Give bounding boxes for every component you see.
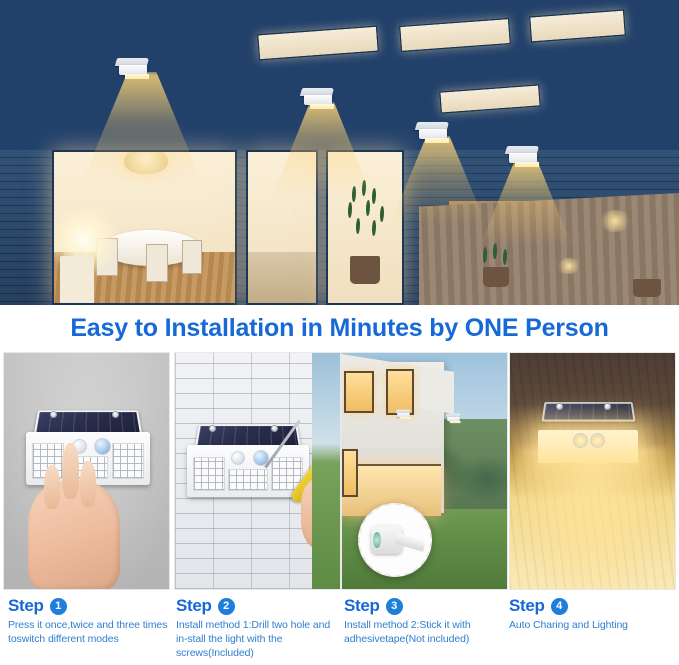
light-glow (598, 210, 632, 232)
chair (182, 240, 202, 274)
step-caption-3: Step 3 Install method 2:Stick it with ad… (344, 596, 512, 647)
mounting-screw (50, 411, 57, 418)
light-housing (119, 65, 147, 75)
step-heading-3: Step 3 (344, 596, 512, 616)
potted-plant (342, 186, 394, 258)
step-label-2: Step (176, 596, 212, 616)
step-caption-1: Step 1 Press it once,twice and three tim… (8, 596, 176, 647)
step-caption-4: Step 4 Auto Charing and Lighting (509, 596, 677, 633)
product-infographic: Easy to Installation in Minutes by ONE P… (0, 0, 679, 665)
step-heading-1: Step 1 (8, 596, 176, 616)
led-array-left (193, 457, 225, 491)
solar-light-fixture (115, 58, 149, 75)
mounting-screw (604, 403, 611, 410)
upper-window (386, 369, 414, 415)
step-text-1: Press it once,twice and three times tosw… (8, 619, 176, 647)
plant-pot (350, 256, 380, 284)
step-label-1: Step (8, 596, 44, 616)
step-heading-2: Step 2 (176, 596, 344, 616)
interior-plant-room (326, 150, 404, 305)
mounting-screw (271, 425, 278, 432)
illuminated-face (538, 430, 637, 463)
tape-core (373, 532, 381, 548)
light-housing (397, 413, 410, 418)
step-text-2: Install method 1:Drill two hole and in-s… (176, 619, 344, 661)
step-badge-4: 4 (551, 598, 568, 615)
upper-window (344, 371, 374, 413)
led-array (425, 138, 449, 143)
motion-sensor (94, 438, 111, 455)
led-array (310, 104, 334, 109)
step-photo-1 (3, 352, 170, 590)
light-housing (304, 95, 332, 105)
solar-light-fixture (415, 122, 449, 139)
plinth (60, 256, 94, 305)
step-label-4: Step (509, 596, 545, 616)
solar-light-fixture (505, 146, 539, 163)
step-badge-2: 2 (218, 598, 235, 615)
step-heading-4: Step 4 (509, 596, 677, 616)
index-finger (62, 443, 79, 499)
mounting-screw (556, 403, 563, 410)
adhesive-tape-callout (358, 503, 432, 577)
step-photo-2 (174, 352, 341, 590)
step-badge-3: 3 (386, 598, 403, 615)
light-glow (556, 258, 582, 274)
finger (44, 465, 60, 509)
solar-light-fixture (395, 410, 410, 418)
pendant-lamp (124, 150, 168, 174)
led-array-center (228, 469, 267, 491)
light-housing (447, 417, 460, 422)
finger (80, 461, 96, 507)
step-photo-4 (509, 352, 676, 590)
light-flood-pool (517, 447, 669, 589)
deck-planter (633, 279, 661, 297)
section-heading-band: Easy to Installation in Minutes by ONE P… (0, 305, 679, 352)
hero-image (0, 0, 679, 305)
interior-dining-room (52, 150, 237, 305)
led-array (400, 417, 411, 419)
outdoor-background-strip (312, 353, 340, 590)
led-array (450, 421, 461, 423)
solar-light-fixture (300, 88, 334, 105)
step-text-4: Auto Charing and Lighting (509, 619, 677, 633)
light-housing (419, 129, 447, 139)
step-photo-3 (341, 352, 508, 590)
led-array (515, 162, 539, 167)
hall-floor (248, 252, 316, 303)
light-housing (187, 445, 309, 497)
step-caption-2: Step 2 Install method 1:Drill two hole a… (176, 596, 344, 661)
power-button (231, 451, 245, 465)
mounting-screw (112, 411, 119, 418)
chair (146, 244, 168, 282)
step-text-3: Install method 2:Stick it with adhesivet… (344, 619, 512, 647)
light-housing (509, 153, 537, 163)
ground-window (342, 449, 358, 497)
step-captions-row: Step 1 Press it once,twice and three tim… (0, 596, 679, 665)
step-photo-row (0, 352, 679, 590)
step-label-3: Step (344, 596, 380, 616)
deck-plant (479, 243, 513, 273)
led-array (125, 74, 149, 79)
step-badge-1: 1 (50, 598, 67, 615)
solar-light-fixture (445, 414, 460, 422)
led-array-right (112, 443, 144, 478)
mounting-screw (209, 425, 216, 432)
solar-light-product (534, 401, 642, 463)
page-title: Easy to Installation in Minutes by ONE P… (70, 314, 608, 343)
interior-hallway (246, 150, 318, 305)
